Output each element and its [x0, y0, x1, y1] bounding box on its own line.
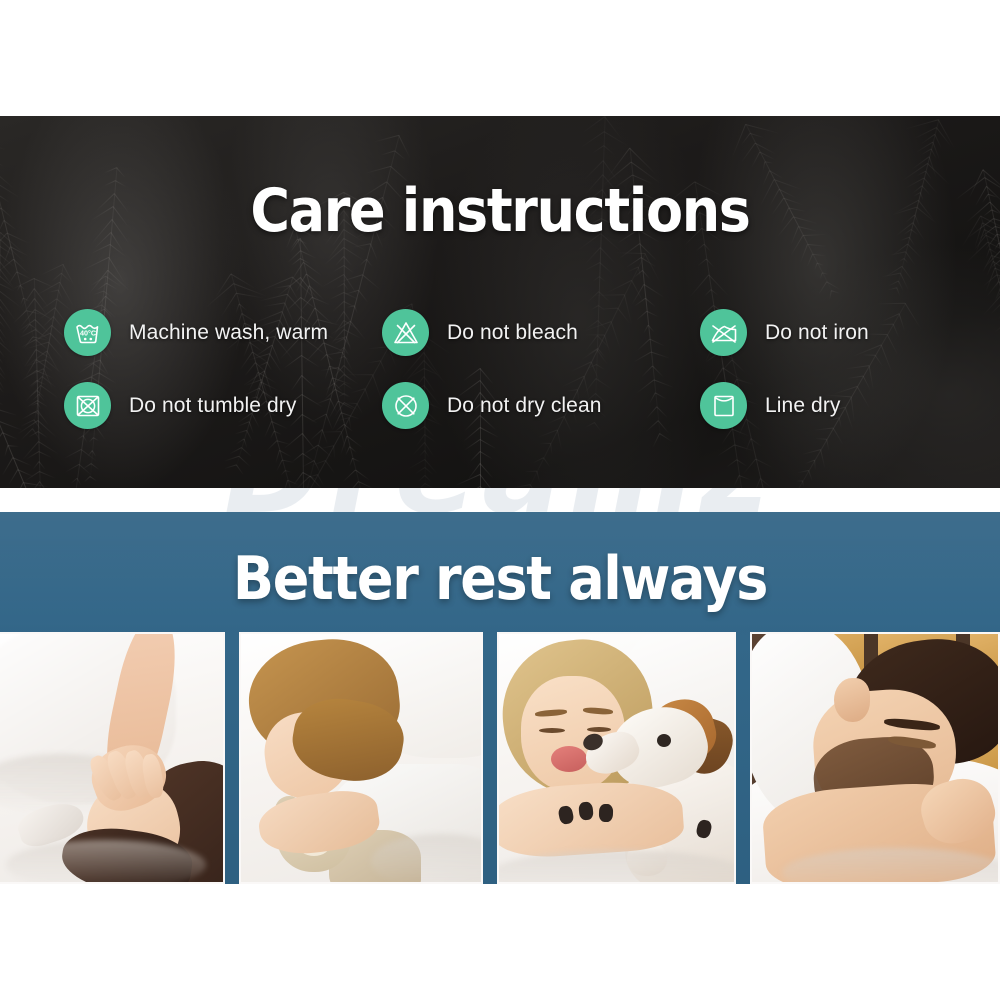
care-instructions-title: Care instructions [50, 176, 950, 246]
better-rest-banner: Better rest always [0, 512, 1000, 884]
no-iron-icon [700, 309, 747, 356]
care-item-line-dry: Line dry [700, 382, 944, 429]
care-item-do-not-bleach: Do not bleach [382, 309, 700, 356]
care-label-machine-wash: Machine wash, warm [129, 321, 328, 345]
brand-watermark: Dreamz [0, 488, 1000, 512]
care-label-do-not-dry-clean: Do not dry clean [447, 394, 602, 418]
care-label-line-dry: Line dry [765, 394, 841, 418]
photo-man-sleeping [750, 632, 1000, 884]
care-symbol-grid: 40°C Machine wash, warm Do not bleach [64, 296, 944, 442]
photo-girl-hugging-teddy-bear [239, 632, 483, 884]
no-dry-clean-icon [382, 382, 429, 429]
care-item-do-not-iron: Do not iron [700, 309, 944, 356]
photo-woman-with-dog [497, 632, 736, 884]
photo-woman-stretching-in-bed [0, 632, 225, 884]
lifestyle-photo-row [0, 632, 1000, 884]
wash-tub-40c-icon: 40°C [64, 309, 111, 356]
product-infographic-page: Care instructions 40°C Machine wash, war… [0, 0, 1000, 1000]
no-tumble-dry-icon [64, 382, 111, 429]
care-instructions-banner: Care instructions 40°C Machine wash, war… [0, 116, 1000, 488]
care-item-machine-wash: 40°C Machine wash, warm [64, 309, 382, 356]
no-bleach-triangle-icon [382, 309, 429, 356]
care-label-do-not-iron: Do not iron [765, 321, 869, 345]
care-label-do-not-bleach: Do not bleach [447, 321, 578, 345]
care-item-do-not-dry-clean: Do not dry clean [382, 382, 700, 429]
better-rest-title: Better rest always [50, 544, 950, 614]
separator-strip: Dreamz [0, 488, 1000, 512]
care-item-do-not-tumble-dry: Do not tumble dry [64, 382, 382, 429]
care-label-do-not-tumble-dry: Do not tumble dry [129, 394, 296, 418]
line-dry-icon [700, 382, 747, 429]
svg-text:40°C: 40°C [79, 328, 95, 337]
